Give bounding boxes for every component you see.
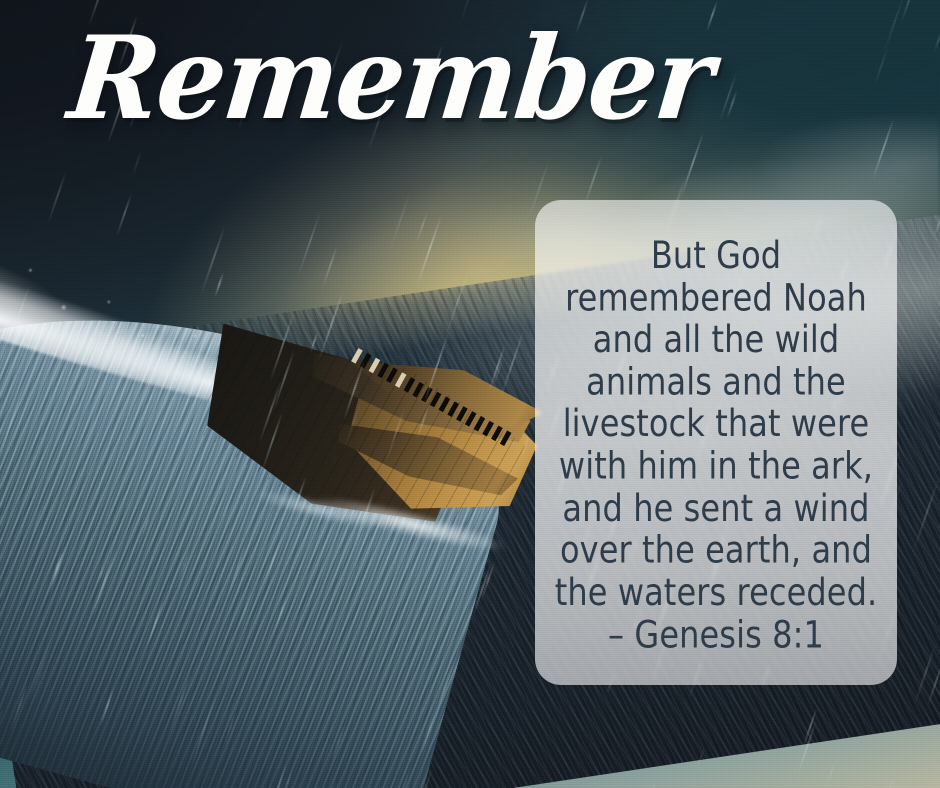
quote-line: and all the wild xyxy=(554,319,878,361)
scripture-quote-text: But God remembered Noah and all the wild… xyxy=(554,234,878,656)
quote-line: But God xyxy=(554,234,878,276)
scripture-graphic: Remember But God remembered Noah and all… xyxy=(0,0,940,788)
quote-line: with him in the ark, xyxy=(554,445,878,487)
quote-line: livestock that were xyxy=(554,403,878,445)
scripture-quote-card: But God remembered Noah and all the wild… xyxy=(535,200,897,685)
quote-line: and he sent a wind xyxy=(554,487,878,529)
quote-line: the waters receded. xyxy=(554,571,878,613)
page-title: Remember xyxy=(64,22,717,136)
quote-line: over the earth, and xyxy=(554,529,878,571)
quote-line: animals and the xyxy=(554,361,878,403)
quote-line: remembered Noah xyxy=(554,276,878,318)
scripture-reference: – Genesis 8:1 xyxy=(554,615,878,657)
